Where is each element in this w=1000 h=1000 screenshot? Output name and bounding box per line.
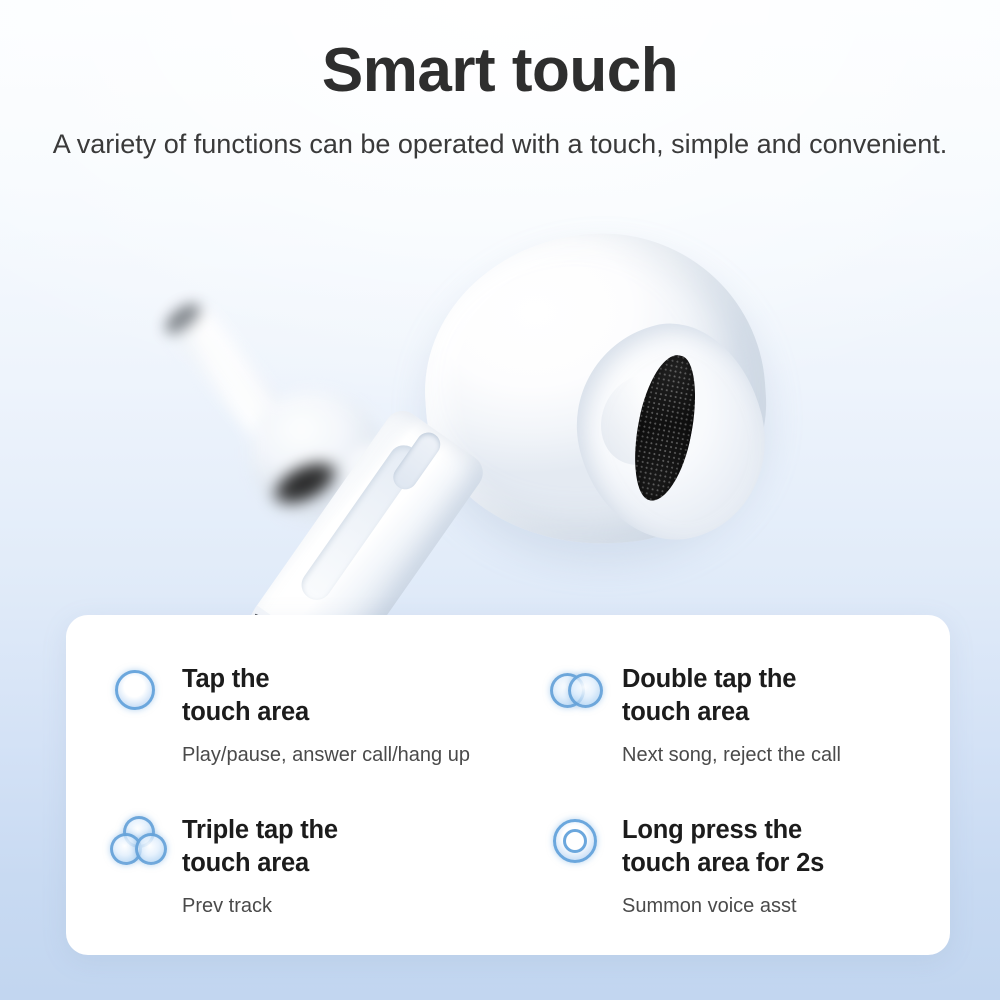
feature-text: Double tap thetouch area Next song, reje… — [622, 661, 841, 768]
feature-description: Play/pause, answer call/hang up — [182, 742, 470, 768]
circle-shape — [135, 833, 167, 865]
page-title: Smart touch — [0, 38, 1000, 103]
circle-shape — [568, 673, 603, 708]
feature-item-triple-tap: Triple tap thetouch area Prev track — [110, 812, 496, 919]
feature-text: Tap thetouch area Play/pause, answer cal… — [182, 661, 470, 768]
circle-shape — [115, 670, 155, 710]
feature-description: Summon voice asst — [622, 893, 824, 919]
earbud-body — [415, 223, 776, 556]
page-header: Smart touch A variety of functions can b… — [0, 0, 1000, 163]
feature-text: Triple tap thetouch area Prev track — [182, 812, 338, 919]
product-image-stage — [0, 200, 1000, 670]
feature-heading: Double tap thetouch area — [622, 663, 841, 729]
feature-item-double-tap: Double tap thetouch area Next song, reje… — [520, 661, 906, 768]
feature-card: Tap thetouch area Play/pause, answer cal… — [66, 615, 950, 955]
page-subtitle: A variety of functions can be operated w… — [0, 125, 1000, 163]
concentric-circle-icon — [550, 816, 608, 874]
feature-item-tap: Tap thetouch area Play/pause, answer cal… — [110, 661, 496, 768]
triple-circle-icon — [110, 816, 168, 874]
feature-grid: Tap thetouch area Play/pause, answer cal… — [110, 661, 906, 919]
feature-text: Long press thetouch area for 2s Summon v… — [622, 812, 824, 919]
double-circle-icon — [550, 665, 608, 723]
feature-description: Next song, reject the call — [622, 742, 841, 768]
feature-item-long-press: Long press thetouch area for 2s Summon v… — [520, 812, 906, 919]
feature-heading: Triple tap thetouch area — [182, 814, 338, 880]
feature-description: Prev track — [182, 893, 338, 919]
product-feature-page: Smart touch A variety of functions can b… — [0, 0, 1000, 1000]
circle-shape-inner — [563, 829, 587, 853]
single-circle-icon — [110, 665, 168, 723]
feature-heading: Tap thetouch area — [182, 663, 470, 729]
feature-heading: Long press thetouch area for 2s — [622, 814, 824, 880]
